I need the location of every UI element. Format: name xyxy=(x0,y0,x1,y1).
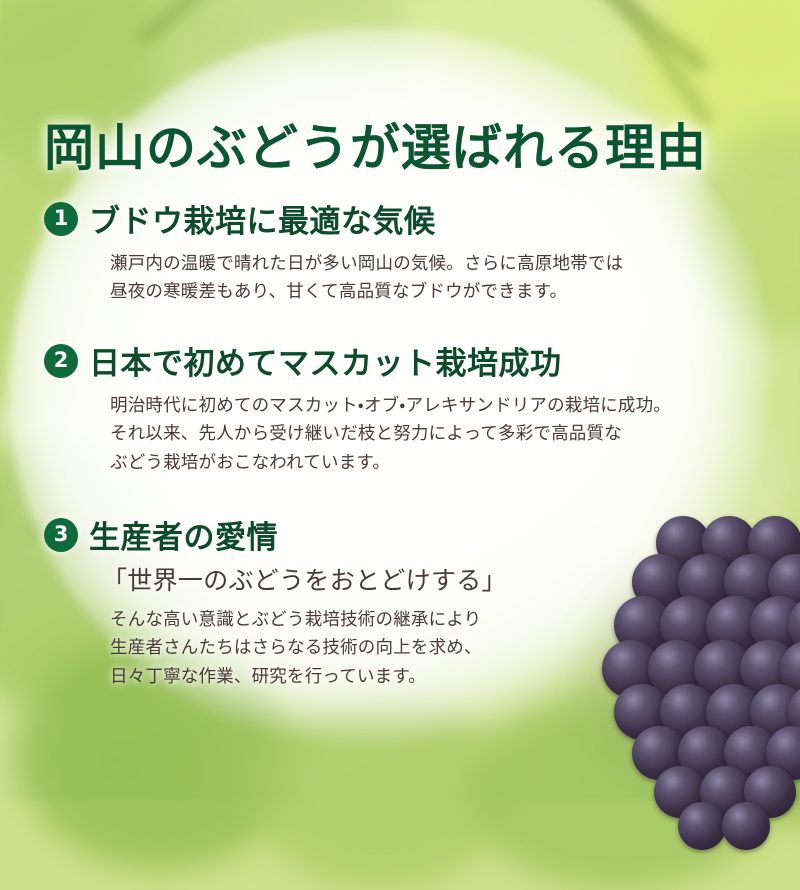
reason-item-1: 1 ブドウ栽培に最適な気候 瀬戸内の温暖で晴れた日が多い岡山の気候。さらに高原地… xyxy=(44,196,623,307)
reason-3-heading: 生産者の愛情 xyxy=(89,512,278,557)
reason-2-body: 明治時代に初めてのマスカット・オブ・アレキサンドリアの栽培に成功。 それ以来、先… xyxy=(110,392,671,477)
grape-berry xyxy=(678,802,726,850)
reason-3-body: そんな高い意識とぶどう栽培技術の継承により 生産者さんたちはさらなる技術の向上を… xyxy=(110,606,507,691)
page-title: 岡山のぶどうが選ばれる理由 xyxy=(44,108,707,180)
reason-3-line-2: 生産者さんたちはさらなる技術の向上を求め、 xyxy=(110,634,507,662)
reason-2-line-3: ぶどう栽培がおこなわれています。 xyxy=(110,449,671,477)
reason-2-header: 2 日本で初めてマスカット栽培成功 xyxy=(44,338,671,383)
reason-item-3: 3 生産者の愛情 「世界一のぶどうをおとどけする」 そんな高い意識とぶどう栽培技… xyxy=(44,512,507,691)
grape-berry xyxy=(722,802,770,850)
reason-3-line-1: そんな高い意識とぶどう栽培技術の継承により xyxy=(110,606,507,634)
reason-3-line-3: 日々丁寧な作業、研究を行っています。 xyxy=(110,663,507,691)
reason-1-header: 1 ブドウ栽培に最適な気候 xyxy=(44,196,623,241)
reason-1-line-2: 昼夜の寒暖差もあり、甘くて高品質なブドウができます。 xyxy=(110,278,623,306)
quote-text: 「世界一のぶどうをおとどけする」 xyxy=(102,566,507,595)
reason-3-header: 3 生産者の愛情 xyxy=(44,512,507,557)
content-area: 岡山のぶどうが選ばれる理由 1 ブドウ栽培に最適な気候 瀬戸内の温暖で晴れた日が… xyxy=(0,0,800,800)
number-badge-2: 2 xyxy=(44,344,78,378)
reason-2-line-1: 明治時代に初めてのマスカット・オブ・アレキサンドリアの栽培に成功。 xyxy=(110,392,671,420)
reason-2-line-2: それ以来、先人から受け継いだ枝と努力によって多彩で高品質な xyxy=(110,420,671,448)
number-badge-1: 1 xyxy=(44,202,78,236)
reason-item-2: 2 日本で初めてマスカット栽培成功 明治時代に初めてのマスカット・オブ・アレキサ… xyxy=(44,338,671,477)
number-badge-3: 3 xyxy=(44,518,78,552)
reason-1-body: 瀬戸内の温暖で晴れた日が多い岡山の気候。さらに高原地帯では 昼夜の寒暖差もあり、… xyxy=(110,250,623,307)
reason-1-line-1: 瀬戸内の温暖で晴れた日が多い岡山の気候。さらに高原地帯では xyxy=(110,250,623,278)
reason-3-quote: 「世界一のぶどうをおとどけする」 xyxy=(102,561,507,597)
reason-1-heading: ブドウ栽培に最適な気候 xyxy=(89,196,436,241)
reason-2-heading: 日本で初めてマスカット栽培成功 xyxy=(89,338,562,383)
